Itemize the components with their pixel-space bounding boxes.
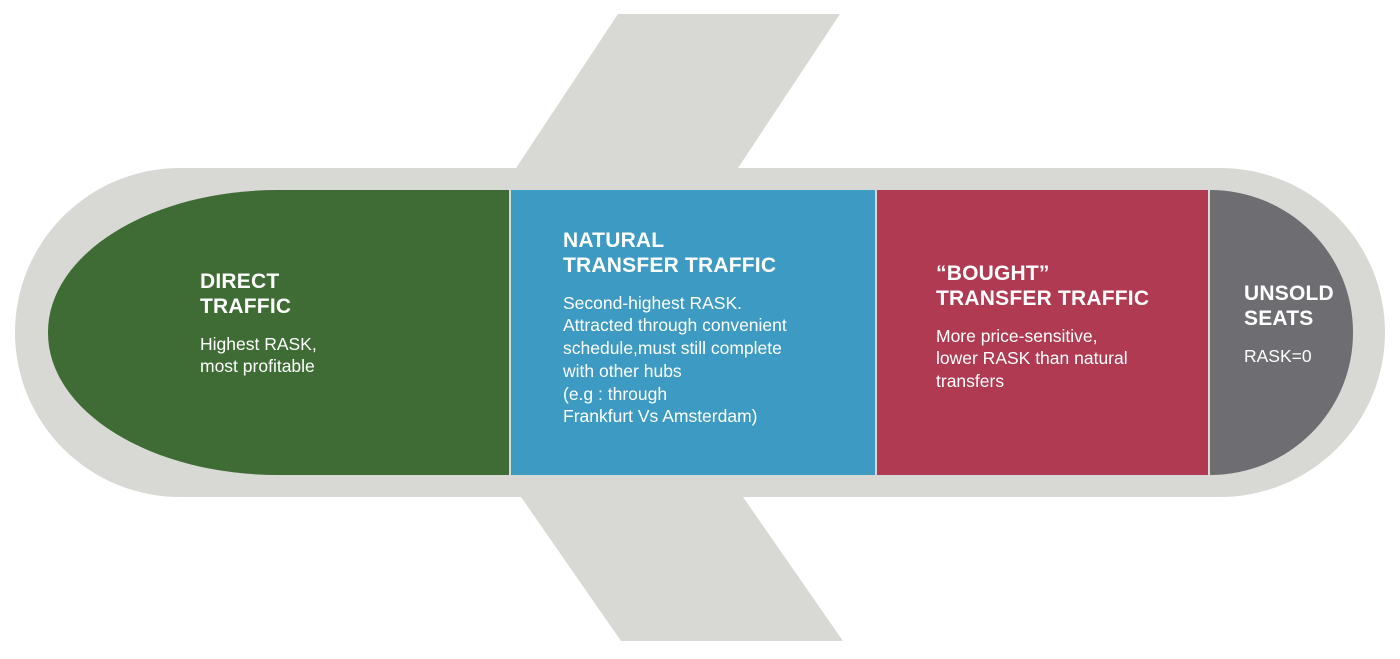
segment-unsold-seats-description: RASK=0 (1244, 345, 1334, 368)
title-line: TRANSFER TRAFFIC (563, 254, 787, 279)
desc-line: Highest RASK, (200, 333, 317, 356)
segment-bought-transfer-traffic[interactable]: “BOUGHT” TRANSFER TRAFFIC More price-sen… (877, 190, 1208, 475)
desc-line: Frankfurt Vs Amsterdam) (563, 405, 787, 428)
segment-natural-transfer-traffic-description: Second-highest RASK. Attracted through c… (563, 292, 787, 429)
desc-line: schedule,must still complete (563, 337, 787, 360)
fuselage-segments: DIRECT TRAFFIC Highest RASK, most profit… (0, 0, 1400, 659)
desc-line: (e.g : through (563, 383, 787, 406)
desc-line: RASK=0 (1244, 345, 1334, 368)
segment-bought-transfer-traffic-text: “BOUGHT” TRANSFER TRAFFIC More price-sen… (936, 262, 1149, 393)
desc-line: with other hubs (563, 360, 787, 383)
desc-line: Second-highest RASK. (563, 292, 787, 315)
segment-direct-traffic[interactable]: DIRECT TRAFFIC Highest RASK, most profit… (48, 190, 509, 475)
desc-line: lower RASK than natural (936, 347, 1149, 370)
segment-natural-transfer-traffic-text: NATURAL TRANSFER TRAFFIC Second-highest … (563, 229, 787, 428)
diagram-canvas: DIRECT TRAFFIC Highest RASK, most profit… (0, 0, 1400, 659)
title-line: TRAFFIC (200, 295, 317, 320)
segment-direct-traffic-title: DIRECT TRAFFIC (200, 270, 317, 320)
segment-natural-transfer-traffic-title: NATURAL TRANSFER TRAFFIC (563, 229, 787, 279)
desc-line: most profitable (200, 355, 317, 378)
desc-line: transfers (936, 370, 1149, 393)
segment-unsold-seats-title: UNSOLD SEATS (1244, 282, 1334, 332)
segment-bought-transfer-traffic-description: More price-sensitive, lower RASK than na… (936, 325, 1149, 393)
segment-natural-transfer-traffic[interactable]: NATURAL TRANSFER TRAFFIC Second-highest … (511, 190, 875, 475)
segment-unsold-seats-text: UNSOLD SEATS RASK=0 (1244, 282, 1334, 367)
segment-direct-traffic-text: DIRECT TRAFFIC Highest RASK, most profit… (200, 270, 317, 378)
desc-line: More price-sensitive, (936, 325, 1149, 348)
title-line: TRANSFER TRAFFIC (936, 287, 1149, 312)
segment-bought-transfer-traffic-title: “BOUGHT” TRANSFER TRAFFIC (936, 262, 1149, 312)
segment-unsold-seats[interactable]: UNSOLD SEATS RASK=0 (1210, 190, 1353, 475)
segment-direct-traffic-description: Highest RASK, most profitable (200, 333, 317, 379)
title-line: NATURAL (563, 229, 787, 254)
title-line: SEATS (1244, 307, 1334, 332)
desc-line: Attracted through convenient (563, 314, 787, 337)
title-line: UNSOLD (1244, 282, 1334, 307)
title-line: “BOUGHT” (936, 262, 1149, 287)
title-line: DIRECT (200, 270, 317, 295)
